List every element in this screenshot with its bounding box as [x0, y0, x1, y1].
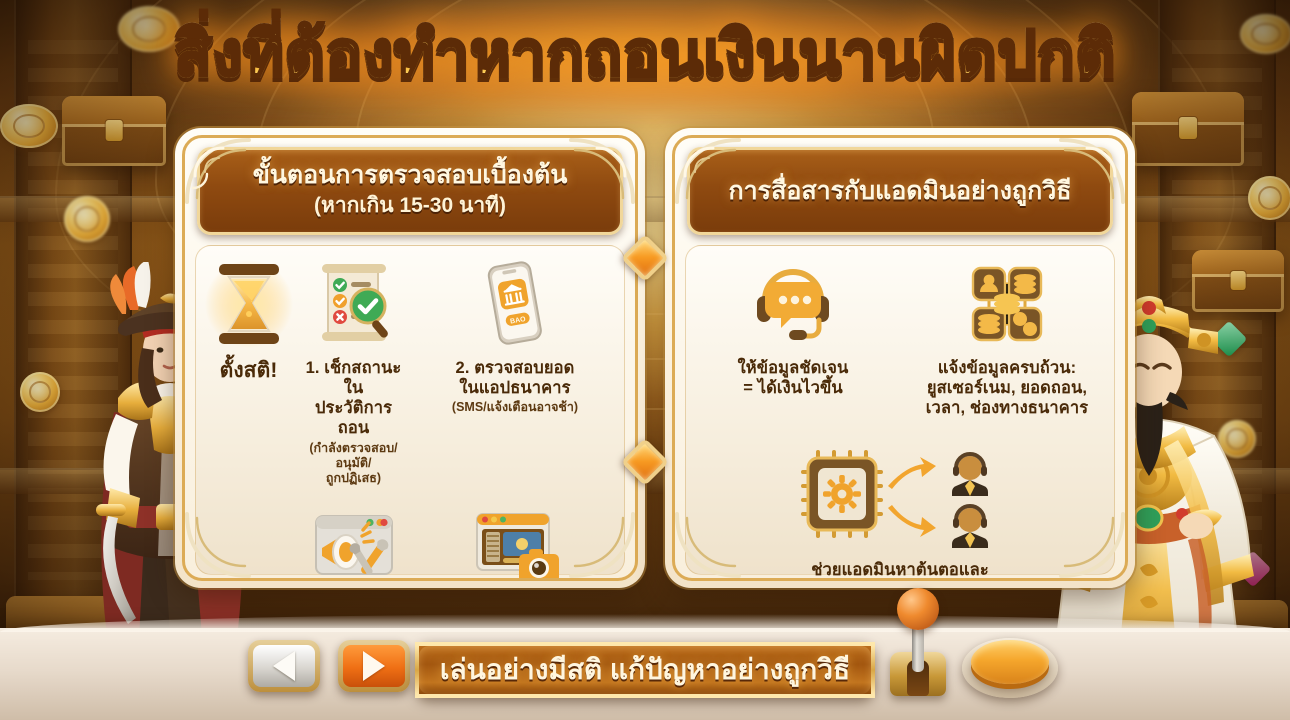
- step-caption: 1. เช็กสถานะใน ประวัติการถอน: [305, 358, 402, 439]
- scroll-checklist-icon: [306, 256, 402, 352]
- hourglass-icon: [201, 256, 297, 352]
- play-button-face: [343, 645, 405, 687]
- divider-ornament: [632, 150, 658, 570]
- data-network-icon: [959, 256, 1055, 352]
- spin-button[interactable]: [962, 638, 1058, 698]
- cpu-support-flow-icon: [790, 446, 1010, 554]
- play-button[interactable]: [338, 640, 410, 692]
- step-item-mindset: ตั้งสติ!: [196, 246, 301, 490]
- panel-right-header-title: การสื่อสารกับแอดมินอย่างถูกวิธี: [728, 177, 1071, 205]
- panel-left-header-title: ขั้นตอนการตรวจสอบเบื้องต้น: [253, 161, 568, 189]
- title-section: สิ่งที่ต้องทำหากถอนเงินนานผิดปกติ: [0, 18, 1290, 91]
- comm-caption: ช่วยแอดมินหาต้นตอและ ประสานงานได้รวดเร็ว: [811, 560, 989, 581]
- panel-right-header: การสื่อสารกับแอดมินอย่างถูกวิธี: [687, 147, 1113, 235]
- headset-chat-icon: [745, 256, 841, 352]
- infographic-stage: สิ่งที่ต้องทำหากถอนเงินนานผิดปกติ: [0, 0, 1290, 720]
- panel-right-body: ให้ข้อมูลชัดเจน = ได้เงินไวขึ้น: [685, 245, 1115, 575]
- step-caption: 2. ตรวจสอบยอด ในแอปธนาคาร: [456, 358, 575, 398]
- step-subcaption: (กำลังตรวจสอบ/อนุมัติ/ ถูกปฏิเสธ): [305, 441, 402, 487]
- step-item-bank-announcement: 3. เช็กประกาศธนาคาร ปรับปรุงระบบ: [301, 490, 406, 581]
- comm-item-clear-info: ให้ข้อมูลชัดเจน = ได้เงินไวขึ้น: [686, 246, 900, 422]
- comm-caption: แจ้งข้อมูลครบถ้วน: ยูสเซอร์เนม, ยอดถอน, …: [926, 358, 1088, 418]
- comm-item-support-flow: ช่วยแอดมินหาต้นตอและ ประสานงานได้รวดเร็ว: [686, 436, 1114, 581]
- screenshot-camera-icon: [467, 500, 563, 581]
- panel-left-header-sub: (หากเกิน 15-30 นาที): [253, 189, 568, 222]
- bottom-banner: เล่นอย่างมีสติ แก้ปัญหาอย่างถูกวิธี: [415, 642, 875, 698]
- page-title: สิ่งที่ต้องทำหากถอนเงินนานผิดปกติ: [0, 18, 1290, 91]
- joystick-ball-icon: [897, 588, 939, 630]
- triangle-right-icon: [363, 651, 385, 681]
- joystick[interactable]: [884, 584, 952, 696]
- prev-button[interactable]: [248, 640, 320, 692]
- bottom-banner-text: เล่นอย่างมีสติ แก้ปัญหาอย่างถูกวิธี: [440, 648, 850, 692]
- panel-left-header: ขั้นตอนการตรวจสอบเบื้องต้น (หากเกิน 15-3…: [197, 147, 623, 235]
- spacer-cell: [196, 490, 301, 581]
- triangle-left-icon: [273, 651, 295, 681]
- mobile-bank-app-icon: BAO: [467, 256, 563, 352]
- step-subcaption: (SMS/แจ้งเตือนอาจช้า): [452, 400, 578, 415]
- prev-button-face: [253, 645, 315, 687]
- step-item-bank-app: BAO 2. ตรวจสอบยอด ในแอปธนาคาร (SMS/แจ้งเ…: [406, 246, 624, 490]
- announcement-maintenance-icon: [306, 500, 402, 581]
- panel-verification-steps: ขั้นตอนการตรวจสอบเบื้องต้น (หากเกิน 15-3…: [175, 128, 645, 588]
- spin-button-top: [971, 640, 1049, 684]
- panel-left-inner: ขั้นตอนการตรวจสอบเบื้องต้น (หากเกิน 15-3…: [182, 135, 638, 581]
- comm-caption: ให้ข้อมูลชัดเจน = ได้เงินไวขึ้น: [738, 358, 849, 398]
- panel-left-body: ตั้งสติ!: [195, 245, 625, 575]
- step-caption: ตั้งสติ!: [220, 358, 278, 384]
- panel-admin-communication: การสื่อสารกับแอดมินอย่างถูกวิธี: [665, 128, 1135, 588]
- comm-item-complete-info: แจ้งข้อมูลครบถ้วน: ยูสเซอร์เนม, ยอดถอน, …: [900, 246, 1114, 422]
- panel-right-inner: การสื่อสารกับแอดมินอย่างถูกวิธี: [672, 135, 1128, 581]
- step-item-screenshot: 4. เตรียมแคปหน้าจอ ประวัติและยอดเงิน แจ้…: [406, 490, 624, 581]
- step-item-check-status: 1. เช็กสถานะใน ประวัติการถอน (กำลังตรวจส…: [301, 246, 406, 490]
